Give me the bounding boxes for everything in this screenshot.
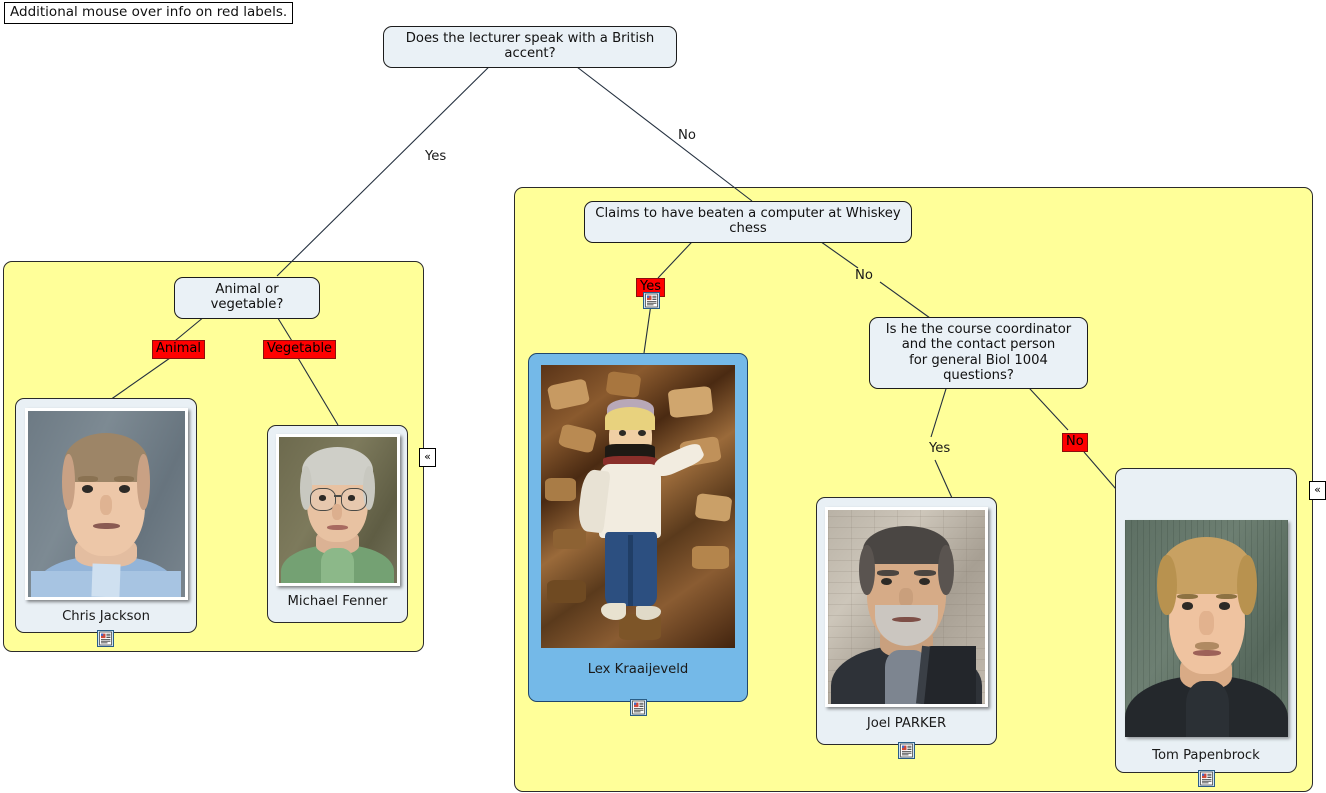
decision-tree-canvas: Additional mouse over info on red labels…	[0, 0, 1326, 793]
portrait-michael-fenner	[279, 437, 397, 583]
photo-frame-chris-jackson	[25, 408, 188, 600]
edge-label-coordinator-yes: Yes	[929, 441, 950, 456]
person-name-joel-parker: Joel PARKER	[817, 716, 996, 731]
person-card-lex-kraaijeveld[interactable]: Lex Kraaijeveld	[528, 353, 748, 702]
portrait-joel-parker	[828, 510, 985, 704]
collapse-handle-right-panel[interactable]: «	[1309, 481, 1326, 500]
question-node-animal-or-vegetable[interactable]: Animal or vegetable?	[174, 277, 320, 319]
person-name-chris-jackson: Chris Jackson	[16, 609, 196, 624]
person-card-joel-parker[interactable]: Joel PARKER	[816, 497, 997, 745]
edge-label-chess-no: No	[855, 268, 873, 283]
note-document-icon-tom-papenbrock[interactable]	[1198, 770, 1215, 787]
edge-label-animal[interactable]: Animal	[152, 340, 205, 359]
edge-label-vegetable[interactable]: Vegetable	[263, 340, 336, 359]
question-node-course-coordinator[interactable]: Is he the course coordinator and the con…	[869, 317, 1088, 389]
edge-root-to-animal-vegetable	[277, 54, 502, 276]
collapse-handle-left-panel[interactable]: «	[419, 448, 436, 467]
person-name-michael-fenner: Michael Fenner	[268, 594, 407, 609]
question-node-whiskey-chess[interactable]: Claims to have beaten a computer at Whis…	[584, 201, 912, 243]
edge-root-to-whiskey-chess	[560, 54, 752, 201]
person-name-tom-papenbrock: Tom Papenbrock	[1116, 748, 1296, 763]
edge-label-root-yes: Yes	[425, 149, 446, 164]
portrait-tom-papenbrock	[1125, 520, 1288, 737]
photo-frame-tom-papenbrock	[1125, 520, 1288, 737]
note-document-icon-lex-kraaijeveld[interactable]	[630, 699, 647, 716]
photo-frame-joel-parker	[825, 507, 988, 707]
question-node-british-accent[interactable]: Does the lecturer speak with a British a…	[383, 26, 677, 68]
portrait-lex-kraaijeveld	[541, 365, 735, 648]
person-card-michael-fenner[interactable]: Michael Fenner	[267, 425, 408, 623]
person-card-chris-jackson[interactable]: Chris Jackson	[15, 398, 197, 633]
person-name-lex-kraaijeveld: Lex Kraaijeveld	[529, 662, 747, 677]
portrait-chris-jackson	[28, 411, 185, 597]
note-document-icon-chris-jackson[interactable]	[97, 630, 114, 647]
info-banner: Additional mouse over info on red labels…	[4, 2, 293, 24]
photo-frame-michael-fenner	[276, 434, 400, 586]
person-card-tom-papenbrock[interactable]: Tom Papenbrock	[1115, 468, 1297, 773]
note-document-icon-joel-parker[interactable]	[898, 742, 915, 759]
note-document-icon-chess-yes[interactable]	[643, 292, 660, 309]
edge-label-root-no: No	[678, 128, 696, 143]
edge-label-coordinator-no[interactable]: No	[1062, 433, 1088, 452]
photo-frame-lex-kraaijeveld	[541, 365, 735, 648]
